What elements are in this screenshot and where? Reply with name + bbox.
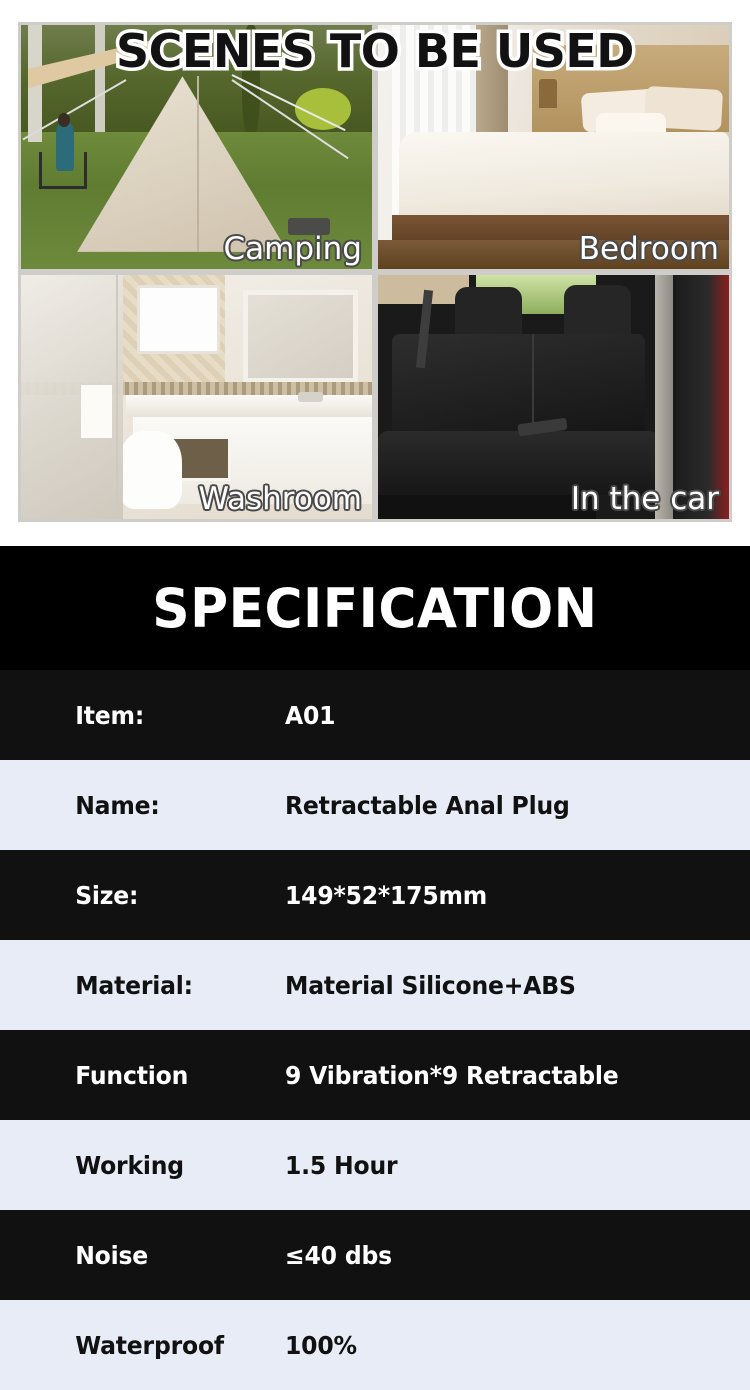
spec-label-working: Working <box>0 1151 268 1180</box>
table-row: Function 9 Vibration*9 Retractable <box>0 1030 750 1120</box>
spec-label-waterproof: Waterproof <box>0 1331 268 1360</box>
spec-value-size: 149*52*175mm <box>285 881 722 910</box>
scene-label-camping: Camping <box>224 231 362 267</box>
spec-value-function: 9 Vibration*9 Retractable <box>285 1061 722 1090</box>
spec-value-item: A01 <box>285 701 722 730</box>
table-row: Noise ≤40 dbs <box>0 1210 750 1300</box>
table-row: Material: Material Silicone+ABS <box>0 940 750 1030</box>
scenes-image-grid: Camping Bedroom <box>18 22 732 522</box>
specification-section: SPECIFICATION Item: A01 Name: Retractabl… <box>0 546 750 1384</box>
spec-value-noise: ≤40 dbs <box>285 1241 722 1270</box>
spec-label-material: Material: <box>0 971 268 1000</box>
spec-label-name: Name: <box>0 791 268 820</box>
table-row: Item: A01 <box>0 670 750 760</box>
spec-label-noise: Noise <box>0 1241 268 1270</box>
spec-value-waterproof: 100% <box>285 1331 722 1360</box>
table-row: Waterproof 100% <box>0 1300 750 1390</box>
table-row: Name: Retractable Anal Plug <box>0 760 750 850</box>
scene-cell-washroom[interactable]: Washroom <box>21 275 372 519</box>
scenes-heading: SCENES TO BE USED <box>0 24 750 78</box>
spec-label-size: Size: <box>0 881 268 910</box>
specification-header: SPECIFICATION <box>0 546 750 670</box>
spec-label-function: Function <box>0 1061 268 1090</box>
scene-label-in-the-car: In the car <box>571 481 719 517</box>
specification-table: Item: A01 Name: Retractable Anal Plug Si… <box>0 670 750 1390</box>
spec-value-name: Retractable Anal Plug <box>285 791 722 820</box>
scenes-section: Camping Bedroom <box>0 0 750 546</box>
scene-label-washroom: Washroom <box>198 481 362 517</box>
spec-value-working: 1.5 Hour <box>285 1151 722 1180</box>
spec-value-material: Material Silicone+ABS <box>285 971 722 1000</box>
spec-label-item: Item: <box>0 701 268 730</box>
scene-label-bedroom: Bedroom <box>579 231 719 267</box>
specification-title: SPECIFICATION <box>152 577 597 640</box>
table-row: Size: 149*52*175mm <box>0 850 750 940</box>
table-row: Working 1.5 Hour <box>0 1120 750 1210</box>
scene-cell-in-the-car[interactable]: In the car <box>378 275 729 519</box>
